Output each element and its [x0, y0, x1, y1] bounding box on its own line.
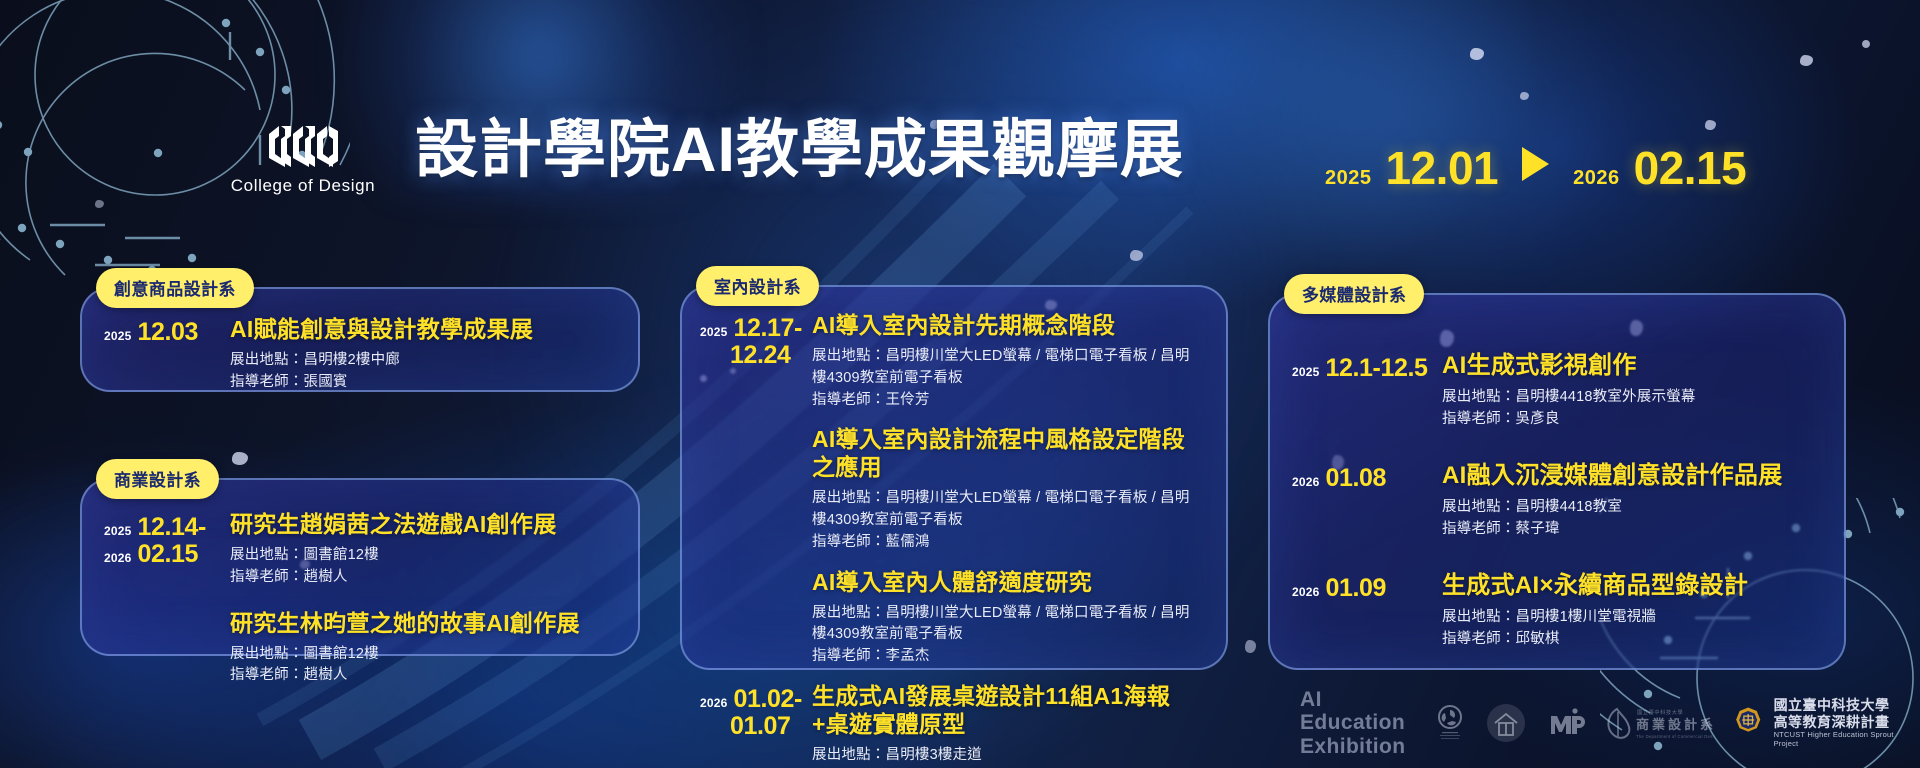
event-date-year: 2026	[1292, 585, 1320, 599]
particle	[95, 200, 104, 208]
event-title: AI賦能創意與設計教學成果展	[230, 315, 608, 343]
particle	[1705, 120, 1716, 130]
event-date-day-2: 01.07	[730, 713, 791, 740]
event-venue: 展出地點：昌明樓1樓川堂電視牆	[1442, 607, 1822, 629]
event-date-day: 12.14-	[138, 514, 207, 541]
event-item[interactable]: 2026 01.08 AI融入沉浸媒體創意設計作品展 展出地點：昌明樓4418教…	[1292, 461, 1822, 541]
particle	[1862, 40, 1870, 48]
event-main: 研究生林昀萱之她的故事AI創作展 展出地點：圖書館12樓 指導老師：趙樹人	[230, 609, 608, 688]
event-instructor: 指導老師：吳彥良	[1442, 409, 1822, 431]
creative-product-design-dept-logo-icon	[1433, 703, 1467, 743]
sponsor-text: 國立臺中科技大學 高等教育深耕計畫 NTCUST Higher Educatio…	[1774, 697, 1900, 749]
sponsor-line-3: NTCUST Higher Education Sprout Project	[1774, 731, 1900, 749]
end-date: 02.15	[1634, 145, 1747, 191]
event-instructor: 指導老師：邱敏棋	[1442, 629, 1822, 651]
event-item[interactable]: 2025 12.14- 2026 02.15 研究生趙娟茜之法遊戲AI創作展 展…	[104, 510, 608, 589]
event-title: AI生成式影視創作	[1442, 351, 1822, 380]
ntcust-emblem-icon	[1731, 703, 1765, 743]
event-venue: 展出地點：昌明樓川堂大LED螢幕 / 電梯口電子看板 / 昌明樓4309教室前電…	[812, 346, 1204, 390]
sponsor-line-1: 國立臺中科技大學	[1774, 697, 1900, 714]
page-title: 設計學院AI教學成果觀摩展	[415, 119, 1184, 182]
dept-card-creative-product-design[interactable]: 創意商品設計系 2025 12.03 AI賦能創意與設計教學成果展 展出地點：昌…	[80, 287, 640, 392]
event-date-day: 01.09	[1326, 575, 1387, 602]
event-date: 2026 01.08	[1292, 461, 1442, 492]
event-date: 2025 12.14- 2026 02.15	[104, 510, 230, 568]
event-date-day: 12.1-12.5	[1326, 355, 1428, 382]
event-date-day: 12.03	[138, 319, 199, 346]
event-title: 生成式AI×永續商品型錄設計	[1442, 571, 1822, 600]
particle	[1520, 92, 1529, 100]
event-date	[104, 609, 230, 613]
event-venue: 展出地點：昌明樓2樓中廊	[230, 350, 608, 372]
dept-card-commercial-design[interactable]: 商業設計系 2025 12.14- 2026 02.15 研究生趙娟茜之法遊戲A…	[80, 478, 640, 656]
dept-card-multimedia-design[interactable]: 多媒體設計系 2025 12.1-12.5 AI生成式影視創作 展出地點：昌明樓…	[1268, 293, 1846, 670]
multimedia-design-dept-logo-icon	[1545, 703, 1585, 743]
event-main: AI賦能創意與設計教學成果展 展出地點：昌明樓2樓中廊 指導老師：張國賓	[230, 315, 608, 394]
interior-design-dept-logo-icon	[1485, 702, 1527, 744]
event-item[interactable]: AI導入室內人體舒適度研究 展出地點：昌明樓川堂大LED螢幕 / 電梯口電子看板…	[700, 568, 1204, 668]
event-date-year: 2025	[104, 524, 132, 538]
event-instructor: 指導老師：張國賓	[230, 372, 608, 394]
event-item[interactable]: 2025 12.1-12.5 AI生成式影視創作 展出地點：昌明樓4418教室外…	[1292, 351, 1822, 431]
event-instructor: 指導老師：趙樹人	[230, 665, 608, 687]
sponsor-line-2: 高等教育深耕計畫	[1774, 714, 1900, 731]
event-title: AI導入室內人體舒適度研究	[812, 568, 1204, 596]
dept-tag: 室內設計系	[696, 266, 819, 306]
college-of-design-mark-icon	[267, 124, 339, 168]
event-title: AI導入室內設計流程中風格設定階段之應用	[812, 425, 1204, 481]
event-main: AI生成式影視創作 展出地點：昌明樓4418教室外展示螢幕 指導老師：吳彥良	[1442, 351, 1822, 431]
college-brand: College of Design	[228, 124, 378, 196]
event-date-day-2: 02.15	[138, 541, 199, 568]
event-date-year: 2026	[700, 696, 728, 710]
commercial-design-dept-logo-icon: 國立臺中科技大學 商業設計系 The Department of Commerc…	[1603, 703, 1713, 743]
event-venue: 展出地點：昌明樓4418教室外展示螢幕	[1442, 387, 1822, 409]
event-date-day-2: 12.24	[730, 342, 791, 369]
event-date-year: 2026	[1292, 475, 1320, 489]
event-instructor: 指導老師：藍儒鴻	[812, 532, 1204, 554]
event-item[interactable]: AI導入室內設計流程中風格設定階段之應用 展出地點：昌明樓川堂大LED螢幕 / …	[700, 425, 1204, 553]
event-venue: 展出地點：昌明樓川堂大LED螢幕 / 電梯口電子看板 / 昌明樓4309教室前電…	[812, 603, 1204, 647]
event-item[interactable]: 2026 01.09 生成式AI×永續商品型錄設計 展出地點：昌明樓1樓川堂電視…	[1292, 571, 1822, 651]
sponsor-logo: 國立臺中科技大學 高等教育深耕計畫 NTCUST Higher Educatio…	[1731, 697, 1900, 749]
start-year: 2025	[1325, 167, 1372, 190]
event-item[interactable]: 2025 12.17- 12.24 AI導入室內設計先期概念階段 展出地點：昌明…	[700, 311, 1204, 411]
event-date: 2025 12.03	[104, 315, 230, 346]
event-main: AI融入沉浸媒體創意設計作品展 展出地點：昌明樓4418教室 指導老師：蔡子瑋	[1442, 461, 1822, 541]
event-main: 研究生趙娟茜之法遊戲AI創作展 展出地點：圖書館12樓 指導老師：趙樹人	[230, 510, 608, 589]
event-item[interactable]: 研究生林昀萱之她的故事AI創作展 展出地點：圖書館12樓 指導老師：趙樹人	[104, 609, 608, 688]
event-main: AI導入室內人體舒適度研究 展出地點：昌明樓川堂大LED螢幕 / 電梯口電子看板…	[812, 568, 1204, 668]
event-date-day: 12.17-	[734, 315, 803, 342]
event-venue: 展出地點：昌明樓3樓走道	[812, 745, 1204, 767]
event-main: 生成式AI×永續商品型錄設計 展出地點：昌明樓1樓川堂電視牆 指導老師：邱敏棋	[1442, 571, 1822, 651]
event-main: AI導入室內設計先期概念階段 展出地點：昌明樓川堂大LED螢幕 / 電梯口電子看…	[812, 311, 1204, 411]
particle	[232, 452, 248, 465]
event-item[interactable]: 2026 01.02- 01.07 生成式AI發展桌遊設計11組A1海報+桌遊實…	[700, 682, 1204, 768]
event-venue: 展出地點：圖書館12樓	[230, 545, 608, 567]
event-date	[700, 425, 812, 429]
dept-tag: 商業設計系	[96, 459, 219, 499]
play-arrow-icon	[1522, 147, 1549, 181]
event-title: 生成式AI發展桌遊設計11組A1海報+桌遊實體原型	[812, 682, 1204, 738]
event-main: AI導入室內設計流程中風格設定階段之應用 展出地點：昌明樓川堂大LED螢幕 / …	[812, 425, 1204, 553]
dept-tag: 創意商品設計系	[96, 268, 254, 308]
event-title: AI導入室內設計先期概念階段	[812, 311, 1204, 339]
particle	[1130, 250, 1143, 261]
dept-card-interior-design[interactable]: 室內設計系 2025 12.17- 12.24 AI導入室內設計先期概念階段 展…	[680, 285, 1228, 670]
svg-text:商業設計系: 商業設計系	[1636, 717, 1713, 732]
event-item[interactable]: 2025 12.03 AI賦能創意與設計教學成果展 展出地點：昌明樓2樓中廊 指…	[104, 315, 608, 394]
card-body: 2025 12.14- 2026 02.15 研究生趙娟茜之法遊戲AI創作展 展…	[82, 480, 638, 709]
exhibition-date-range: 2025 12.01 2026 02.15	[1325, 145, 1746, 191]
event-date: 2026 01.02- 01.07	[700, 682, 812, 740]
poster-canvas: College of Design 設計學院AI教學成果觀摩展 2025 12.…	[0, 0, 1920, 768]
card-body: 2025 12.1-12.5 AI生成式影視創作 展出地點：昌明樓4418教室外…	[1270, 295, 1844, 668]
start-date: 12.01	[1386, 145, 1499, 191]
event-title: AI融入沉浸媒體創意設計作品展	[1442, 461, 1822, 490]
event-date-year: 2025	[1292, 365, 1320, 379]
event-date	[700, 568, 812, 572]
event-venue: 展出地點：昌明樓川堂大LED螢幕 / 電梯口電子看板 / 昌明樓4309教室前電…	[812, 488, 1204, 532]
event-date-year: 2025	[104, 329, 132, 343]
event-date: 2026 01.09	[1292, 571, 1442, 602]
svg-text:The Department of Commercial D: The Department of Commercial Design of N…	[1636, 734, 1713, 739]
event-instructor: 指導老師：趙樹人	[230, 567, 608, 589]
event-date: 2025 12.17- 12.24	[700, 311, 812, 369]
event-title: 研究生趙娟茜之法遊戲AI創作展	[230, 510, 608, 538]
event-venue: 展出地點：昌明樓4418教室	[1442, 497, 1822, 519]
brand-label: College of Design	[231, 176, 375, 196]
event-instructor: 指導老師：蔡子瑋	[1442, 519, 1822, 541]
dept-tag: 多媒體設計系	[1284, 274, 1424, 314]
footer-bar: AI Education Exhibition	[1300, 690, 1900, 756]
event-date-year-2: 2026	[104, 551, 132, 565]
particle	[1245, 640, 1256, 653]
event-date-day: 01.02-	[734, 686, 803, 713]
end-year: 2026	[1573, 167, 1620, 190]
event-title: 研究生林昀萱之她的故事AI創作展	[230, 609, 608, 637]
particle	[1470, 48, 1484, 60]
event-instructor: 指導老師：李孟杰	[812, 646, 1204, 668]
event-venue: 展出地點：圖書館12樓	[230, 644, 608, 666]
particle	[1800, 55, 1813, 66]
footer-wordmark: AI Education Exhibition	[1300, 688, 1415, 759]
event-date: 2025 12.1-12.5	[1292, 351, 1442, 382]
card-body: 2025 12.17- 12.24 AI導入室內設計先期概念階段 展出地點：昌明…	[682, 287, 1226, 768]
svg-text:國立臺中科技大學: 國立臺中科技大學	[1637, 708, 1683, 716]
event-date-year: 2025	[700, 325, 728, 339]
event-main: 生成式AI發展桌遊設計11組A1海報+桌遊實體原型 展出地點：昌明樓3樓走道 指…	[812, 682, 1204, 768]
event-date-day: 01.08	[1326, 465, 1387, 492]
event-instructor: 指導老師：王伶芳	[812, 390, 1204, 412]
